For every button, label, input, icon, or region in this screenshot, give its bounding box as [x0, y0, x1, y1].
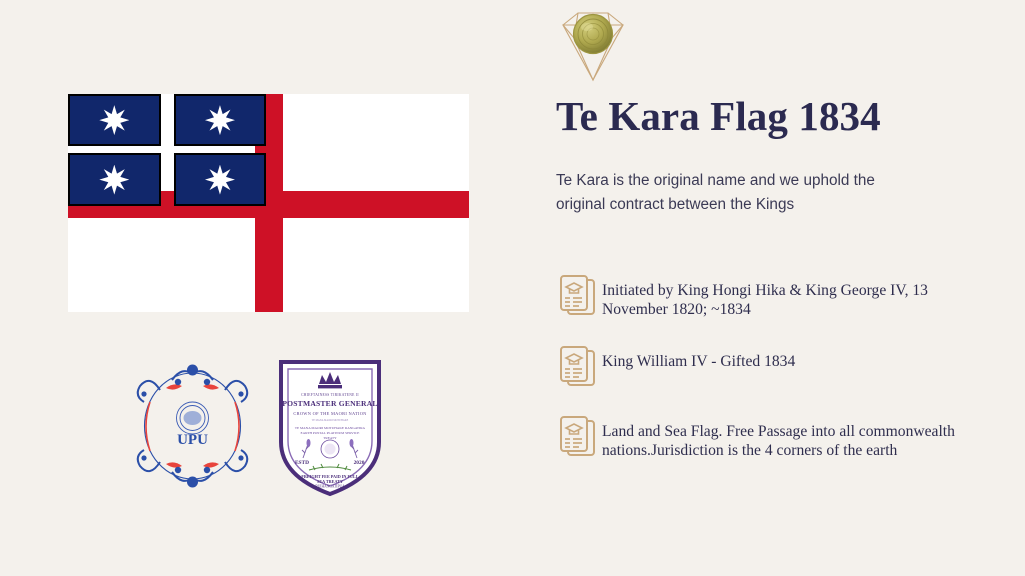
svg-text:POSTMASTER GENERAL: POSTMASTER GENERAL [282, 399, 377, 408]
gold-gem-coin-icon [556, 8, 630, 84]
svg-text:TE MANA MAORI MOTUHAKE: TE MANA MAORI MOTUHAKE [312, 419, 349, 422]
list-item-text: King William IV - Gifted 1834 [602, 343, 960, 371]
postmaster-general-seal-icon: CHIEFTAINESS TIRIKATENE II POSTMASTER GE… [275, 354, 385, 499]
flag-quarter-top-left [68, 94, 161, 146]
svg-text:TREATY: TREATY [323, 436, 337, 440]
seal-estd-year: 2020 [354, 460, 365, 466]
content-column: Te Kara Flag 1834 Te Kara is the origina… [556, 0, 996, 576]
document-graduation-icon [556, 415, 602, 459]
list-item: Land and Sea Flag. Free Passage into all… [556, 413, 976, 460]
document-graduation-icon [556, 345, 602, 389]
document-graduation-icon [556, 274, 602, 318]
eight-point-star-icon [205, 165, 235, 195]
upu-postal-mark-icon: UPU [120, 352, 265, 500]
facts-list: Initiated by King Hongi Hika & King Geor… [556, 272, 976, 460]
svg-text:EARTH POSTAL PLATINUM SERVICE: EARTH POSTAL PLATINUM SERVICE [301, 431, 360, 435]
subtitle-text: Te Kara is the original name and we upho… [556, 169, 886, 216]
slide-root: UPU CHIEFTAINESS TIRIKATENE II POSTMASTE… [0, 0, 1025, 576]
eight-point-star-icon [99, 165, 129, 195]
flag-quarter-bottom-left [68, 153, 161, 205]
list-item: King William IV - Gifted 1834 [556, 343, 976, 389]
flag-canton [68, 94, 269, 205]
flag-quarter-bottom-right [174, 153, 267, 205]
te-kara-flag-image [68, 94, 469, 312]
svg-text:CROWN OF THE MAORI NATION: CROWN OF THE MAORI NATION [293, 411, 367, 416]
list-item: Initiated by King Hongi Hika & King Geor… [556, 272, 976, 319]
page-title: Te Kara Flag 1834 [556, 92, 881, 140]
svg-text:RUIHANGATIPUA: RUIHANGATIPUA [315, 485, 345, 489]
svg-text:SEA TREATY: SEA TREATY [317, 479, 343, 484]
list-item-text: Initiated by King Hongi Hika & King Geor… [602, 272, 960, 319]
seal-estd-label: ESTD [295, 460, 309, 466]
upu-label: UPU [177, 432, 208, 448]
eight-point-star-icon [99, 105, 129, 135]
flag-quarter-top-right [174, 94, 267, 146]
badges-row: UPU CHIEFTAINESS TIRIKATENE II POSTMASTE… [120, 352, 410, 502]
list-item-text: Land and Sea Flag. Free Passage into all… [602, 413, 960, 460]
svg-text:TE MANA MAORI MOTUHAKE RANGATI: TE MANA MAORI MOTUHAKE RANGATIRA [295, 426, 366, 430]
svg-text:CHIEFTAINESS TIRIKATENE II: CHIEFTAINESS TIRIKATENE II [301, 393, 359, 397]
eight-point-star-icon [205, 105, 235, 135]
